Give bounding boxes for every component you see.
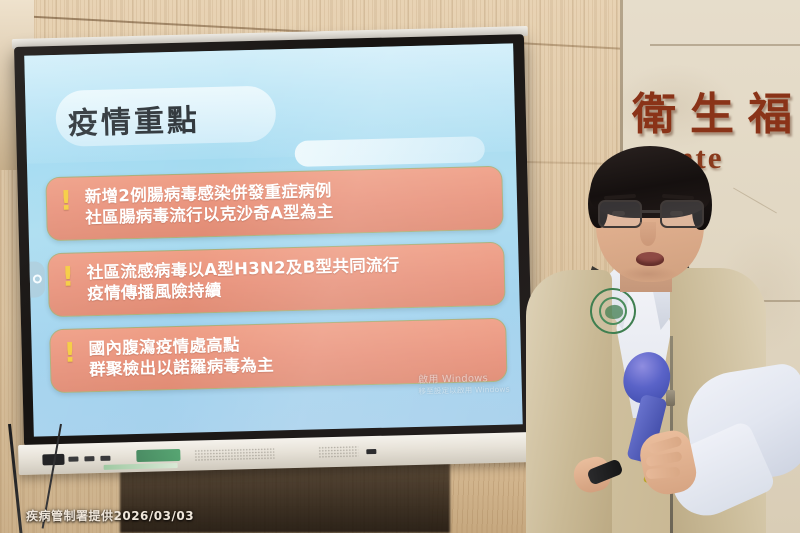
usb-port-1[interactable] bbox=[68, 457, 78, 462]
presentation-slide: 疫情重點 ! 新增2例腸病毒感染併發重症病例 社區腸病毒流行以克沙奇A型為主 !… bbox=[24, 43, 522, 436]
glasses-lens-left bbox=[598, 200, 642, 228]
display-bezel: 疫情重點 ! 新增2例腸病毒感染併發重症病例 社區腸病毒流行以克沙奇A型為主 !… bbox=[14, 34, 534, 447]
bezel-label-strip bbox=[104, 463, 178, 470]
watermark-line-2: 移至設定以啟用 Windows bbox=[418, 384, 510, 397]
ir-receiver bbox=[366, 449, 376, 454]
speaker-grill-left bbox=[194, 448, 274, 462]
photo-caption: 疾病管制署提供2026/03/03 bbox=[26, 507, 194, 524]
list-item: ! 社區流感病毒以A型H3N2及B型共同流行 疫情傳播風險持續 bbox=[47, 242, 505, 317]
zipper-pull bbox=[666, 390, 675, 406]
windows-activation-watermark: 啟用 Windows 移至設定以啟用 Windows bbox=[418, 369, 510, 397]
board-side-toolbar-handle[interactable] bbox=[28, 261, 45, 297]
display-screen[interactable]: 疫情重點 ! 新增2例腸病毒感染併發重症病例 社區腸病毒流行以克沙奇A型為主 !… bbox=[24, 43, 522, 436]
slide-decor-pill bbox=[294, 136, 485, 167]
glasses-bridge bbox=[642, 210, 660, 213]
speaker-figure bbox=[520, 140, 800, 533]
page-title: 疫情重點 bbox=[67, 95, 200, 142]
nose bbox=[640, 222, 656, 246]
mouth bbox=[636, 252, 664, 266]
list-item: ! 新增2例腸病毒感染併發重症病例 社區腸病毒流行以克沙奇A型為主 bbox=[45, 166, 503, 241]
glasses-lens-right bbox=[660, 200, 704, 228]
exclamation-icon: ! bbox=[63, 339, 76, 366]
exclamation-icon: ! bbox=[60, 188, 73, 215]
exclamation-icon: ! bbox=[61, 263, 74, 290]
usb-port-2[interactable] bbox=[84, 456, 94, 461]
circle-icon bbox=[33, 274, 42, 283]
speaker-grill-right bbox=[318, 445, 358, 458]
usb-port-3[interactable] bbox=[100, 456, 110, 461]
wall-seam-1 bbox=[650, 44, 800, 46]
bullet-list: ! 新增2例腸病毒感染併發重症病例 社區腸病毒流行以克沙奇A型為主 ! 社區流感… bbox=[45, 166, 508, 405]
screenshot-scene: 衛生福 Cente 疫情重點 ! 新增2例腸病毒感染併發重症病例 社區腸病 bbox=[0, 0, 800, 533]
bezel-brand-badge bbox=[136, 449, 180, 462]
smart-display-board[interactable]: 疫情重點 ! 新增2例腸病毒感染併發重症病例 社區腸病毒流行以克沙奇A型為主 !… bbox=[14, 34, 535, 492]
chin-shadow bbox=[618, 266, 678, 282]
